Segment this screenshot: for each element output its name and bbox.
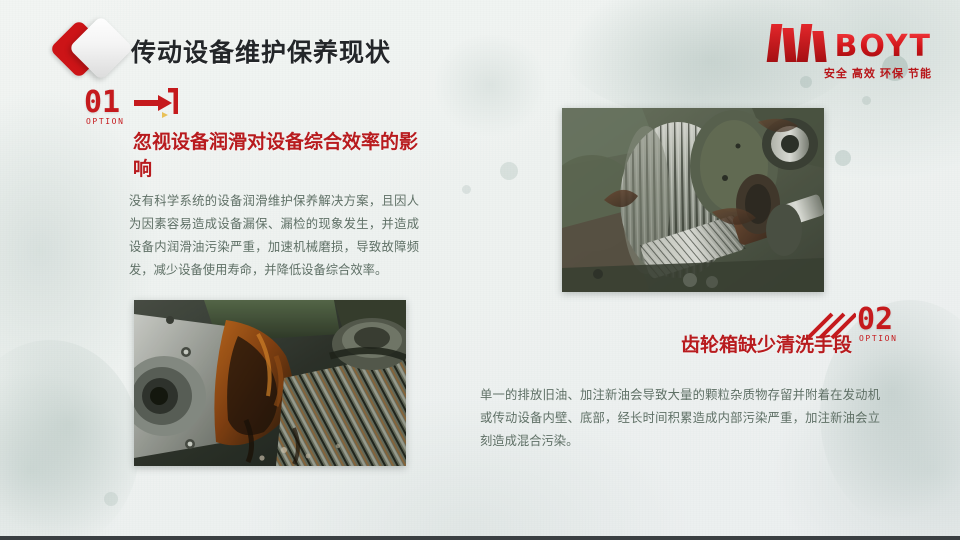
bottom-border	[0, 536, 960, 540]
ink-dot	[500, 162, 518, 180]
option-01-sublabel: OPTION	[86, 117, 125, 126]
page-title: 传动设备维护保养现状	[131, 33, 391, 69]
oily-contaminated-gearbox-photo	[134, 300, 406, 466]
ink-dot	[835, 150, 851, 166]
option-01-body: 没有科学系统的设备润滑维护保养解决方案，且因人为因素容易造成设备漏保、漏检的现象…	[129, 190, 419, 282]
option-02-sublabel: OPTION	[859, 334, 898, 343]
company-logo: BOYT 安全 高效 环保 节能	[769, 22, 933, 74]
option-02-body: 单一的排放旧油、加注新油会导致大量的颗粒杂质物存留并附着在发动机或传动设备内壁、…	[480, 384, 880, 453]
ink-dot	[862, 96, 871, 105]
slide-header: 传动设备维护保养现状 BOYT 安全 高效 环保 节能	[0, 0, 960, 92]
ink-dot	[462, 185, 471, 194]
slide-canvas: 传动设备维护保养现状 BOYT 安全 高效 环保 节能 01 OPTION 忽视…	[0, 0, 960, 540]
option-02-heading: 齿轮箱缺少清洗手段	[681, 333, 852, 360]
option-01-heading: 忽视设备润滑对设备综合效率的影响	[133, 130, 433, 184]
boyt-bars-icon	[769, 22, 827, 62]
diamond-logo-icon	[58, 22, 136, 78]
gearbox-helical-gears-photo	[562, 108, 824, 292]
option-02-number: 02	[857, 305, 893, 335]
ink-dot	[104, 492, 118, 506]
arrow-right-corner-icon	[134, 88, 178, 124]
logo-tagline: 安全 高效 环保 节能	[769, 65, 933, 81]
logo-wordmark: BOYT	[835, 33, 933, 62]
option-01-number: 01	[84, 88, 120, 118]
ink-wash-blob	[0, 340, 140, 540]
